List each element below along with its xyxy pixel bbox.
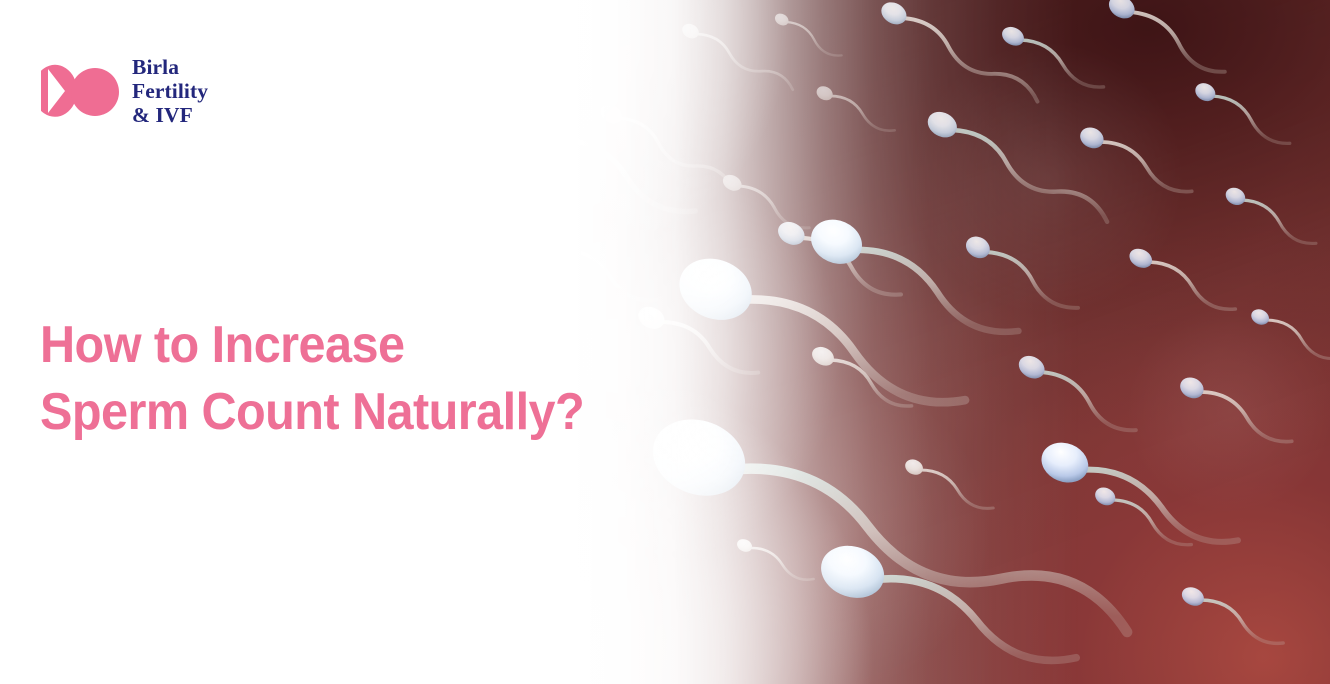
promo-banner: Birla Fertility & IVF How to Increase Sp… — [0, 0, 1330, 684]
brand-logo[interactable]: Birla Fertility & IVF — [41, 54, 208, 127]
page-title: How to Increase Sperm Count Naturally? — [40, 312, 584, 446]
illustration-corner-white-haze — [500, 0, 1330, 684]
sperm-cells-illustration — [500, 0, 1330, 684]
birla-fertility-ivf-mark-icon — [41, 61, 121, 121]
brand-wordmark: Birla Fertility & IVF — [132, 55, 208, 127]
